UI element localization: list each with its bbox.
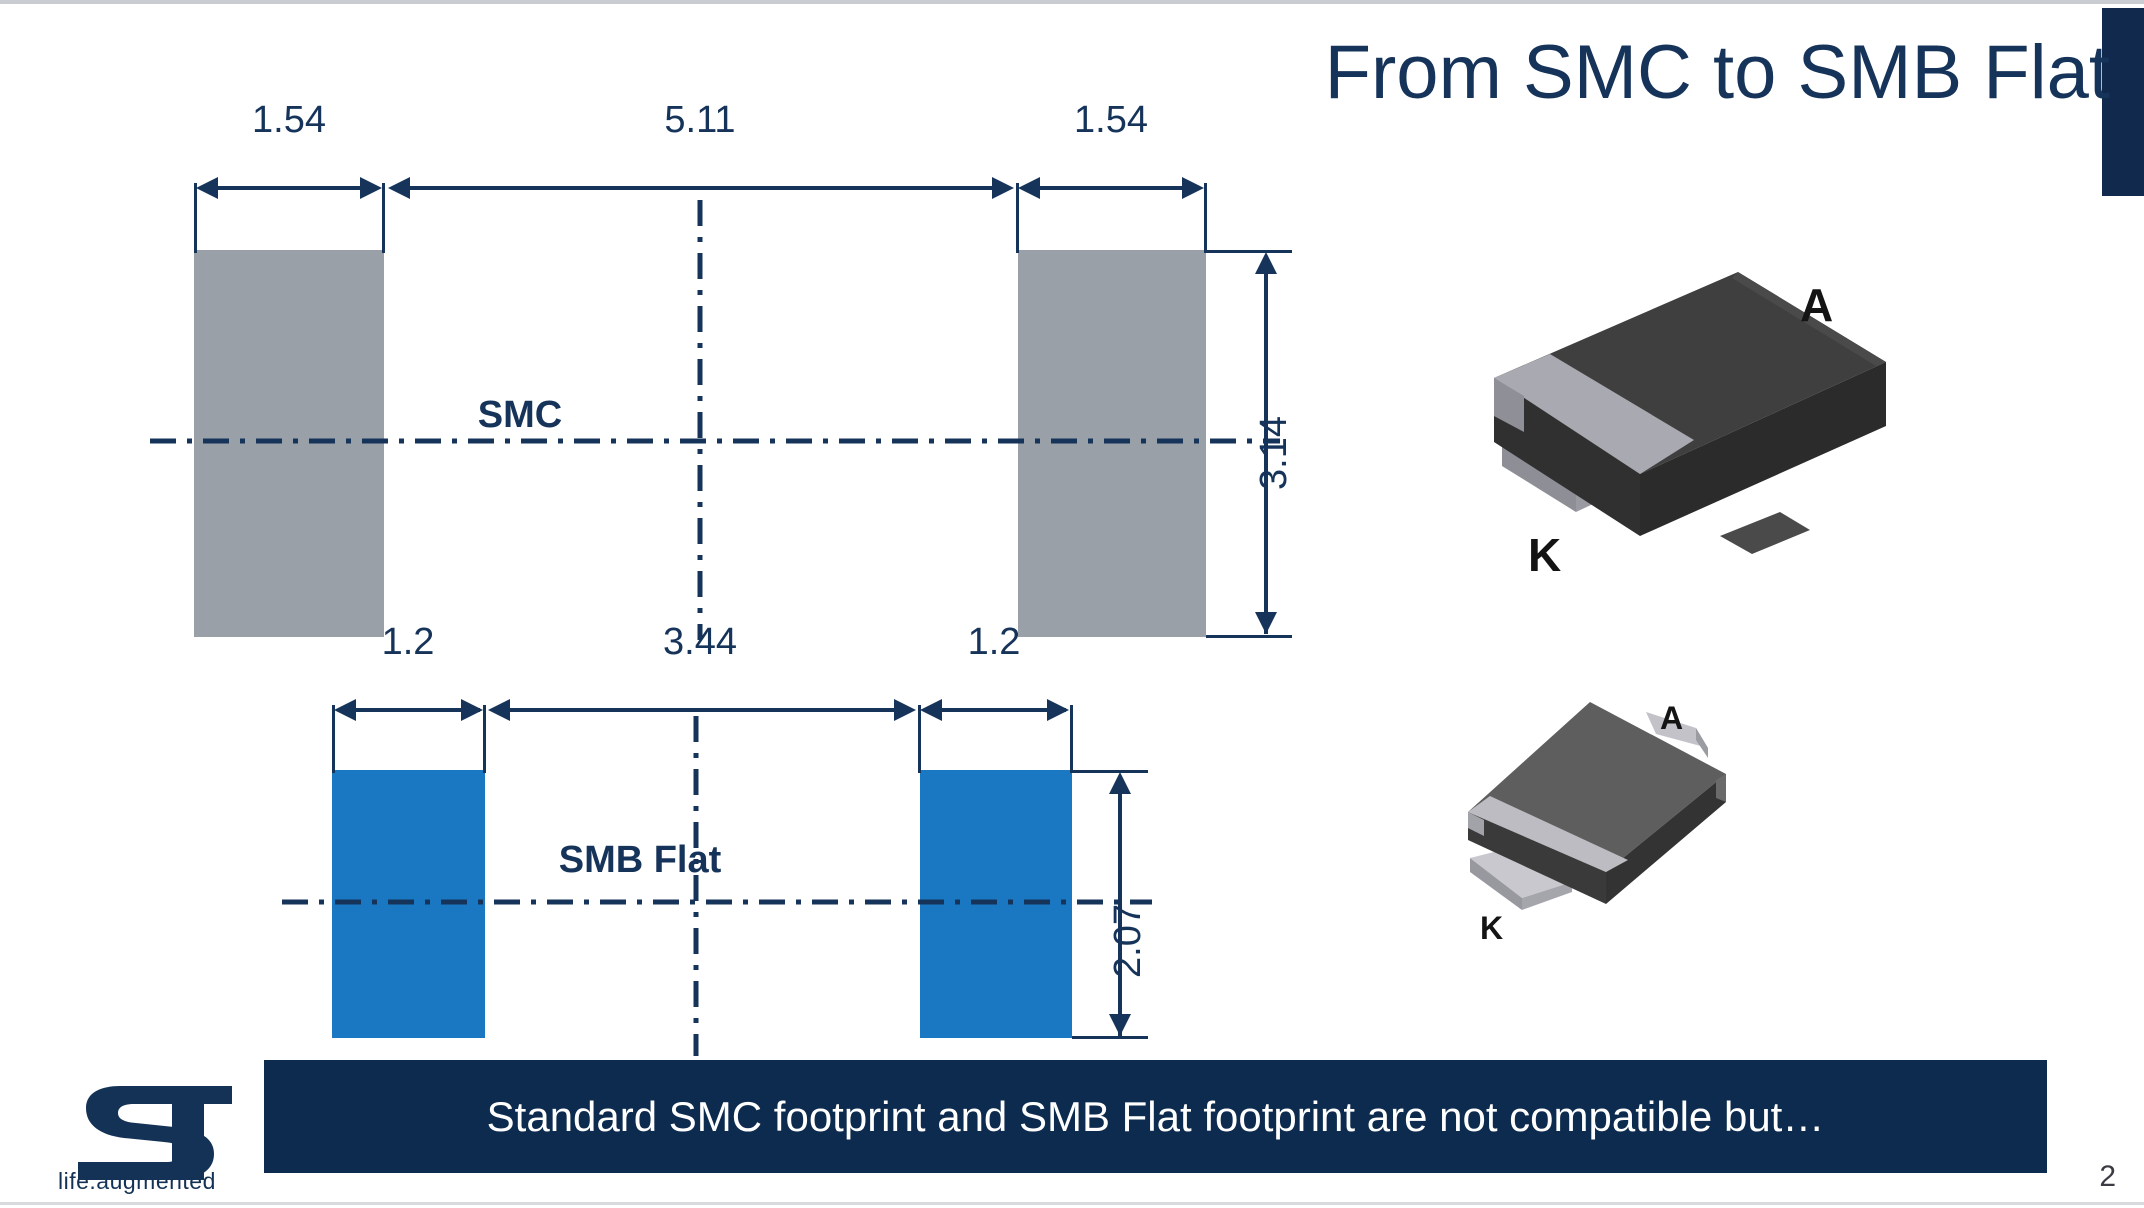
smc-arrow-down-height <box>1255 612 1277 634</box>
smc-dim-gap: 5.11 <box>600 98 800 142</box>
smc-arrow-left-w2 <box>1018 177 1040 199</box>
smc-dim-pad-height: 3.14 <box>1252 416 1296 490</box>
smb-dim-gap: 3.44 <box>600 620 800 664</box>
smb-footprint-label: SMB Flat <box>500 838 780 882</box>
smb-witness-right-inner <box>1070 705 1073 773</box>
smc-arrow-left-gap <box>388 177 410 199</box>
top-divider <box>0 0 2144 4</box>
smc-witness-left-inner <box>382 183 385 253</box>
smc-dim-line-pad-left <box>200 186 378 190</box>
bottom-divider <box>0 1202 2144 1205</box>
smb-arrow-left-w1 <box>334 699 356 721</box>
smc-dim-line-pad-right <box>1022 186 1200 190</box>
smc-arrow-up-height <box>1255 252 1277 274</box>
smc-dim-line-gap <box>392 186 1008 190</box>
smc-centerline-vertical <box>696 200 704 640</box>
smb-dim-pad-width-right: 1.2 <box>894 620 1094 664</box>
smb-flat-package-3d <box>1460 690 1750 930</box>
st-logo-tagline: life.augmented <box>58 1168 216 1195</box>
smb-flat-anode-label: A <box>1660 700 1683 737</box>
smb-centerline-vertical <box>692 716 700 1056</box>
smb-dim-line-pad-left <box>338 708 480 712</box>
smb-arrow-up-height <box>1109 772 1131 794</box>
smc-arrow-right-w2 <box>1182 177 1204 199</box>
smb-arrow-right-w1 <box>461 699 483 721</box>
smb-dim-pad-width-left: 1.2 <box>308 620 508 664</box>
smc-cathode-label: K <box>1528 528 1561 582</box>
footer-banner-text: Standard SMC footprint and SMB Flat foot… <box>487 1093 1825 1141</box>
smb-witness-left-inner <box>483 705 486 773</box>
smb-dim-pad-height: 2.07 <box>1106 904 1150 978</box>
smb-dim-line-gap <box>492 708 910 712</box>
smc-centerline-horizontal <box>150 437 1280 445</box>
smc-dim-pad-width-left: 1.54 <box>189 98 389 142</box>
smb-arrow-left-w2 <box>920 699 942 721</box>
page-number: 2 <box>2099 1160 2116 1194</box>
smc-witness-bottom-right <box>1206 635 1292 638</box>
smb-arrow-down-height <box>1109 1014 1131 1036</box>
smc-witness-top-right <box>1206 250 1292 253</box>
footer-banner: Standard SMC footprint and SMB Flat foot… <box>264 1060 2047 1173</box>
smc-witness-right-inner <box>1204 183 1207 253</box>
smc-arrow-right-gap <box>992 177 1014 199</box>
smc-arrow-right-w1 <box>360 177 382 199</box>
smb-dim-line-pad-right <box>924 708 1066 712</box>
smc-anode-label: A <box>1800 278 1833 332</box>
smb-centerline-horizontal <box>282 898 1152 906</box>
page-title: From SMC to SMB Flat <box>1160 28 2110 118</box>
slide-canvas: From SMC to SMB Flat 1.54 5.11 1.54 3.14… <box>0 0 2144 1208</box>
smc-dim-pad-width-right: 1.54 <box>1011 98 1211 142</box>
smb-arrow-right-gap <box>894 699 916 721</box>
smb-arrow-left-gap <box>488 699 510 721</box>
smb-flat-cathode-label: K <box>1480 910 1503 947</box>
smc-footprint-label: SMC <box>420 393 620 437</box>
smc-arrow-left-w1 <box>196 177 218 199</box>
smb-witness-bottom-right <box>1072 1036 1148 1039</box>
smb-arrow-right-w2 <box>1047 699 1069 721</box>
